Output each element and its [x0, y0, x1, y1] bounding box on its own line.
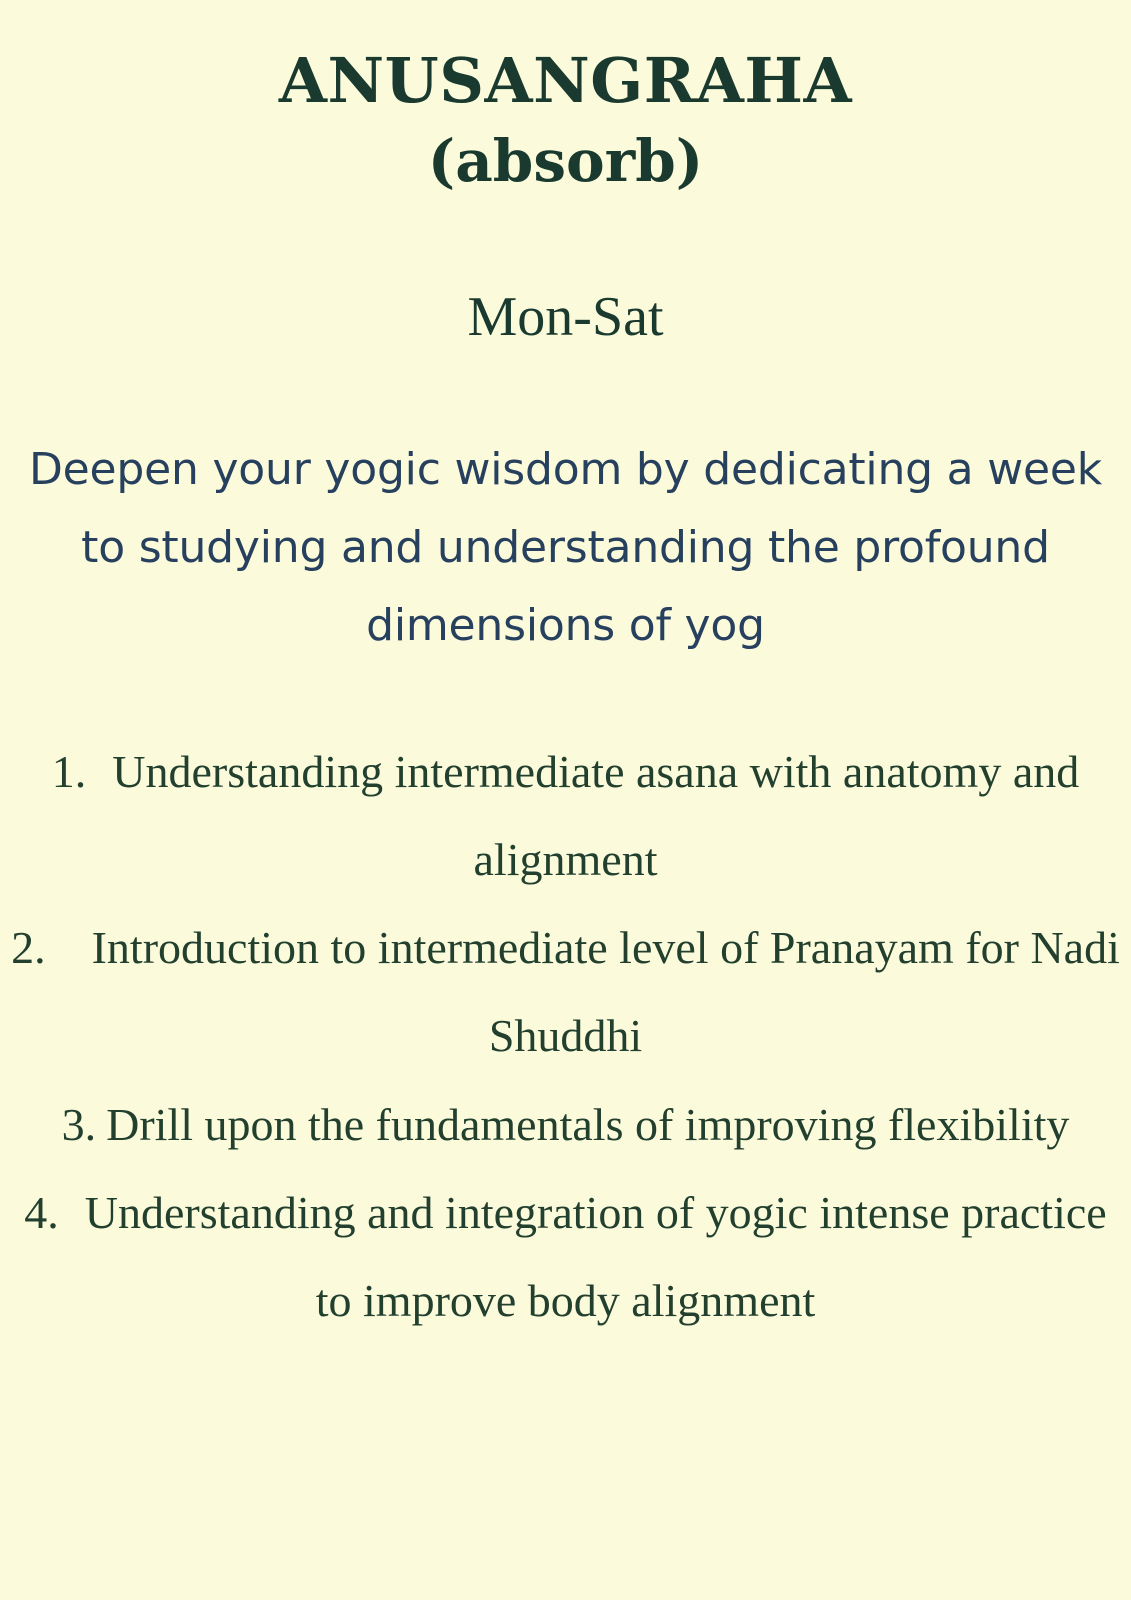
page-subtitle: (absorb)	[0, 128, 1131, 195]
page-title: ANUSANGRAHA	[0, 48, 1131, 114]
list-item-number: 4.	[24, 1187, 59, 1238]
list-item: 2.Introduction to intermediate level of …	[10, 904, 1121, 1081]
list-item-text: Introduction to intermediate level of Pr…	[92, 922, 1120, 1061]
list-item-text: Drill upon the fundamentals of improving…	[106, 1099, 1069, 1150]
list-item: 4.Understanding and integration of yogic…	[10, 1169, 1121, 1346]
header-block: ANUSANGRAHA (absorb)	[0, 0, 1131, 195]
list-item-number: 2.	[11, 922, 46, 973]
poster-page: ANUSANGRAHA (absorb) Mon-Sat Deepen your…	[0, 0, 1131, 1600]
points-list: 1.Understanding intermediate asana with …	[10, 728, 1121, 1346]
list-item-text: Understanding and integration of yogic i…	[85, 1187, 1107, 1326]
schedule-days: Mon-Sat	[0, 287, 1131, 349]
description-block: Deepen your yogic wisdom by dedicating a…	[28, 431, 1103, 666]
list-item-text: Understanding intermediate asana with an…	[112, 746, 1079, 885]
list-item-number: 3.	[62, 1099, 97, 1150]
schedule-block: Mon-Sat	[0, 287, 1131, 349]
list-item-number: 1.	[52, 746, 87, 797]
description-paragraph: Deepen your yogic wisdom by dedicating a…	[28, 431, 1103, 666]
list-item: 3.Drill upon the fundamentals of improvi…	[10, 1081, 1121, 1169]
list-item: 1.Understanding intermediate asana with …	[10, 728, 1121, 905]
